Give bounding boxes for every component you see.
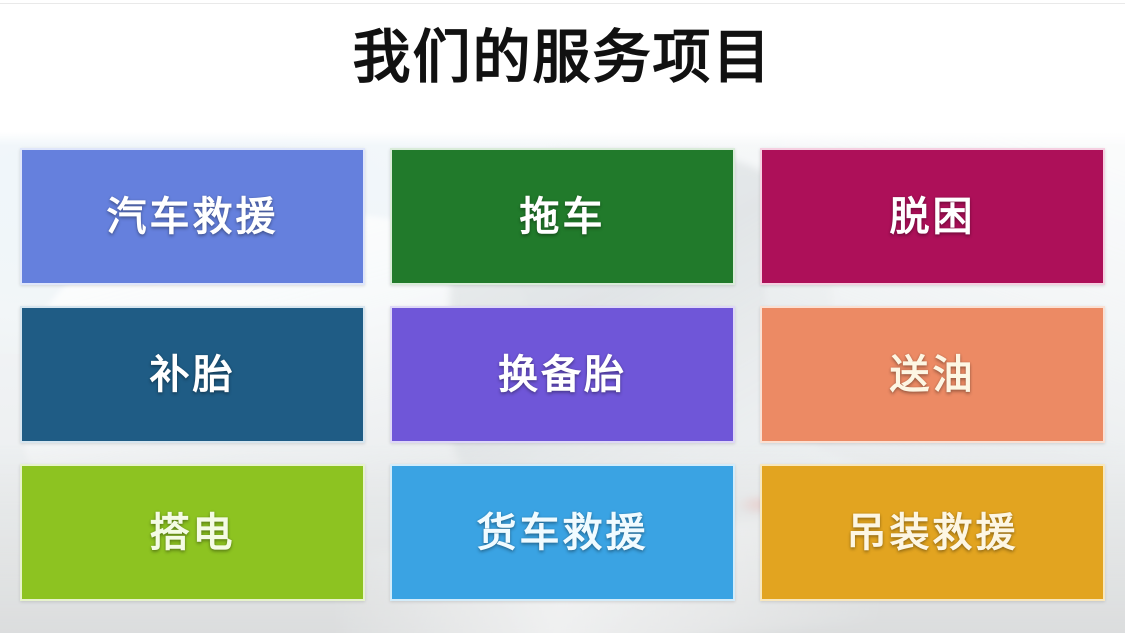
top-hairline	[0, 3, 1125, 4]
service-tile-hoisting-rescue[interactable]: 吊装救援	[760, 464, 1105, 601]
service-items-poster: 我们的服务项目 汽车救援 拖车 脱困 补胎 换备胎 送油 搭电 货车救援 吊装救…	[0, 0, 1125, 633]
service-tile-jump-start[interactable]: 搭电	[20, 464, 365, 601]
service-tile-label: 吊装救援	[847, 513, 1019, 553]
page-title: 我们的服务项目	[0, 26, 1125, 91]
service-tile-label: 货车救援	[477, 513, 649, 553]
service-tile-label: 脱困	[890, 197, 976, 237]
service-tile-truck-rescue[interactable]: 货车救援	[390, 464, 735, 601]
service-tile-label: 换备胎	[498, 355, 627, 395]
service-tile-label: 搭电	[150, 513, 236, 553]
service-tile-towing[interactable]: 拖车	[390, 148, 735, 285]
service-tile-spare-tire-change[interactable]: 换备胎	[390, 306, 735, 443]
service-tile-tire-repair[interactable]: 补胎	[20, 306, 365, 443]
service-tile-car-rescue[interactable]: 汽车救援	[20, 148, 365, 285]
service-tile-label: 汽车救援	[107, 197, 279, 237]
service-tile-label: 送油	[890, 355, 976, 395]
service-tile-fuel-delivery[interactable]: 送油	[760, 306, 1105, 443]
service-grid: 汽车救援 拖车 脱困 补胎 换备胎 送油 搭电 货车救援 吊装救援	[20, 148, 1105, 601]
service-tile-label: 拖车	[520, 197, 606, 237]
service-tile-label: 补胎	[150, 355, 236, 395]
service-tile-extrication[interactable]: 脱困	[760, 148, 1105, 285]
